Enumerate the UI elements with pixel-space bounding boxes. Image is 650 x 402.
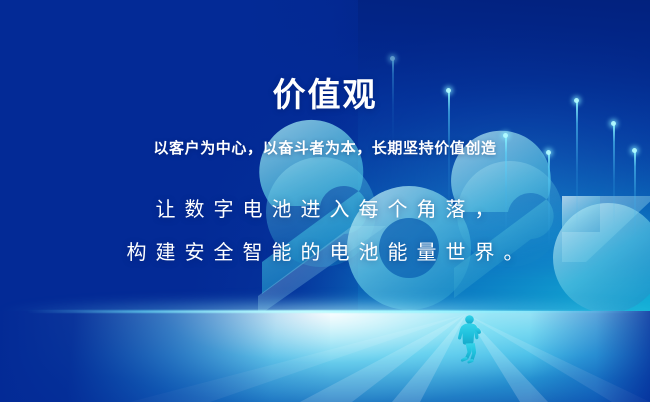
poster-body-line-1: 让数字电池进入每个角落， <box>0 193 650 222</box>
poster-body-line-2: 构建安全智能的电池能量世界。 <box>0 236 650 265</box>
poster-text-block: 价值观 以客户为中心，以奋斗者为本，长期坚持价值创造 让数字电池进入每个角落， … <box>0 0 650 402</box>
poster-subtitle: 以客户为中心，以奋斗者为本，长期坚持价值创造 <box>0 137 650 158</box>
values-poster: 价值观 以客户为中心，以奋斗者为本，长期坚持价值创造 让数字电池进入每个角落， … <box>0 0 650 402</box>
page-title: 价值观 <box>0 68 650 116</box>
